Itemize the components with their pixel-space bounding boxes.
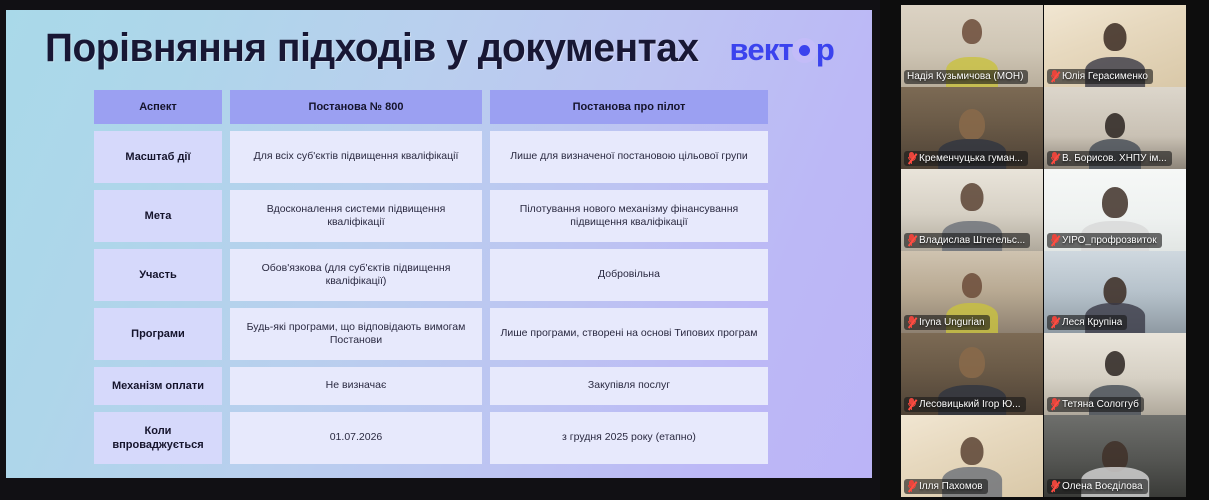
cell-resolution-800: Будь-які програми, що відповідають вимог… <box>230 308 482 360</box>
logo-eye-icon <box>792 38 817 63</box>
column-header-resolution-800: Постанова № 800 <box>230 90 482 124</box>
comparison-table: Аспект Постанова № 800 Постанова про піл… <box>94 90 784 471</box>
row-label: Мета <box>94 190 222 242</box>
cell-pilot: Лише для визначеної постановою цільової … <box>490 131 768 183</box>
participant-name-badge: Надія Кузьмичова (МОН) <box>904 70 1028 84</box>
microphone-muted-icon <box>907 152 916 164</box>
microphone-muted-icon <box>1050 234 1059 246</box>
participant-tile[interactable]: В. Борисов. ХНПУ ім... <box>1044 87 1186 169</box>
participant-name: Юлія Герасименко <box>1062 71 1148 82</box>
logo-text-last: р <box>816 32 834 67</box>
participant-tile[interactable]: Леся Крупіна <box>1044 251 1186 333</box>
participant-name: Владислав Штегельс... <box>919 235 1025 246</box>
participant-tile[interactable]: Тетяна Сологгуб <box>1044 333 1186 415</box>
column-header-pilot-resolution: Постанова про пілот <box>490 90 768 124</box>
row-label: Програми <box>94 308 222 360</box>
cell-resolution-800: Не визначає <box>230 367 482 405</box>
participant-tile[interactable]: УІРО_профрозвиток <box>1044 169 1186 251</box>
page-title: Порівняння підходів у документах <box>45 26 699 71</box>
cell-resolution-800: Вдосконалення системи підвищення кваліфі… <box>230 190 482 242</box>
microphone-muted-icon <box>1050 398 1059 410</box>
person-silhouette <box>1104 23 1127 51</box>
microphone-muted-icon <box>1050 70 1059 82</box>
column-header-aspect: Аспект <box>94 90 222 124</box>
person-silhouette <box>961 437 984 465</box>
table-row: Мета Вдосконалення системи підвищення кв… <box>94 190 784 242</box>
cell-pilot: з грудня 2025 року (етапно) <box>490 412 768 464</box>
person-silhouette <box>1105 351 1125 376</box>
participant-tile[interactable]: Владислав Штегельс... <box>901 169 1043 251</box>
table-row: Коли впроваджується 01.07.2026 з грудня … <box>94 412 784 464</box>
person-silhouette <box>1102 187 1128 218</box>
row-label: Участь <box>94 249 222 301</box>
participant-video-grid[interactable]: Надія Кузьмичова (МОН)Юлія ГерасименкоКр… <box>901 5 1186 497</box>
cell-resolution-800: Для всіх суб'єктів підвищення кваліфікац… <box>230 131 482 183</box>
participant-name: Лесовицький Ігор Ю... <box>919 399 1021 410</box>
participant-name-badge: Лесовицький Ігор Ю... <box>904 397 1026 412</box>
participant-name-badge: Олена Воєділова <box>1047 479 1148 494</box>
row-label: Механізм оплати <box>94 367 222 405</box>
cell-pilot: Закупівля послуг <box>490 367 768 405</box>
participant-name-badge: Юлія Герасименко <box>1047 69 1153 84</box>
participant-tile[interactable]: Олена Воєділова <box>1044 415 1186 497</box>
cell-pilot: Лише програми, створені на основі Типови… <box>490 308 768 360</box>
participant-name-badge: В. Борисов. ХНПУ ім... <box>1047 151 1172 166</box>
cell-pilot: Пілотування нового механізму фінансуванн… <box>490 190 768 242</box>
presentation-slide: Порівняння підходів у документах вектр А… <box>6 10 872 478</box>
cell-pilot: Добровільна <box>490 249 768 301</box>
participant-name-badge: Владислав Штегельс... <box>904 233 1030 248</box>
table-header-row: Аспект Постанова № 800 Постанова про піл… <box>94 90 784 124</box>
participant-name: Леся Крупіна <box>1062 317 1122 328</box>
participant-name: Тетяна Сологгуб <box>1062 399 1139 410</box>
shared-screen-region[interactable]: Порівняння підходів у документах вектр А… <box>0 0 880 500</box>
microphone-muted-icon <box>1050 316 1059 328</box>
participant-name: Iryna Ungurian <box>919 317 985 328</box>
microphone-muted-icon <box>1050 480 1059 492</box>
row-label: Коли впроваджується <box>94 412 222 464</box>
person-silhouette <box>962 273 982 298</box>
microphone-muted-icon <box>907 480 916 492</box>
table-row: Механізм оплати Не визначає Закупівля по… <box>94 367 784 405</box>
microphone-muted-icon <box>907 398 916 410</box>
participant-name-badge: Леся Крупіна <box>1047 315 1127 330</box>
video-conference-window: Порівняння підходів у документах вектр А… <box>0 0 1209 500</box>
participant-tile[interactable]: Ілля Пахомов <box>901 415 1043 497</box>
person-silhouette <box>1104 277 1127 305</box>
participant-tile[interactable]: Юлія Герасименко <box>1044 5 1186 87</box>
table-row: Масштаб дії Для всіх суб'єктів підвищенн… <box>94 131 784 183</box>
participant-tile[interactable]: Надія Кузьмичова (МОН) <box>901 5 1043 87</box>
participant-name: В. Борисов. ХНПУ ім... <box>1062 153 1167 164</box>
table-row: Програми Будь-які програми, що відповіда… <box>94 308 784 360</box>
microphone-muted-icon <box>907 234 916 246</box>
participant-name: Ілля Пахомов <box>919 481 983 492</box>
participant-tile[interactable]: Кременчуцька гуман... <box>901 87 1043 169</box>
vektor-logo: вектр <box>729 32 834 68</box>
participant-tile[interactable]: Iryna Ungurian <box>901 251 1043 333</box>
person-silhouette <box>959 347 985 378</box>
participant-name: Кременчуцька гуман... <box>919 153 1023 164</box>
microphone-muted-icon <box>1050 152 1059 164</box>
table-row: Участь Обов'язкова (для суб'єктів підвищ… <box>94 249 784 301</box>
participant-tile[interactable]: Лесовицький Ігор Ю... <box>901 333 1043 415</box>
logo-text-first: вект <box>729 32 792 67</box>
row-label: Масштаб дії <box>94 131 222 183</box>
participant-name-badge: Тетяна Сологгуб <box>1047 397 1144 412</box>
participant-name: УІРО_профрозвиток <box>1062 235 1157 246</box>
person-silhouette <box>962 19 982 44</box>
participant-name-badge: Iryna Ungurian <box>904 315 990 330</box>
person-silhouette <box>959 109 985 140</box>
participant-name-badge: Кременчуцька гуман... <box>904 151 1028 166</box>
participant-name: Олена Воєділова <box>1062 481 1143 492</box>
participant-name-badge: УІРО_профрозвиток <box>1047 233 1162 248</box>
microphone-muted-icon <box>907 316 916 328</box>
participant-name-badge: Ілля Пахомов <box>904 479 988 494</box>
person-silhouette <box>961 183 984 211</box>
participant-name: Надія Кузьмичова (МОН) <box>907 71 1023 82</box>
cell-resolution-800: Обов'язкова (для суб'єктів підвищення кв… <box>230 249 482 301</box>
person-silhouette <box>1105 113 1125 138</box>
cell-resolution-800: 01.07.2026 <box>230 412 482 464</box>
